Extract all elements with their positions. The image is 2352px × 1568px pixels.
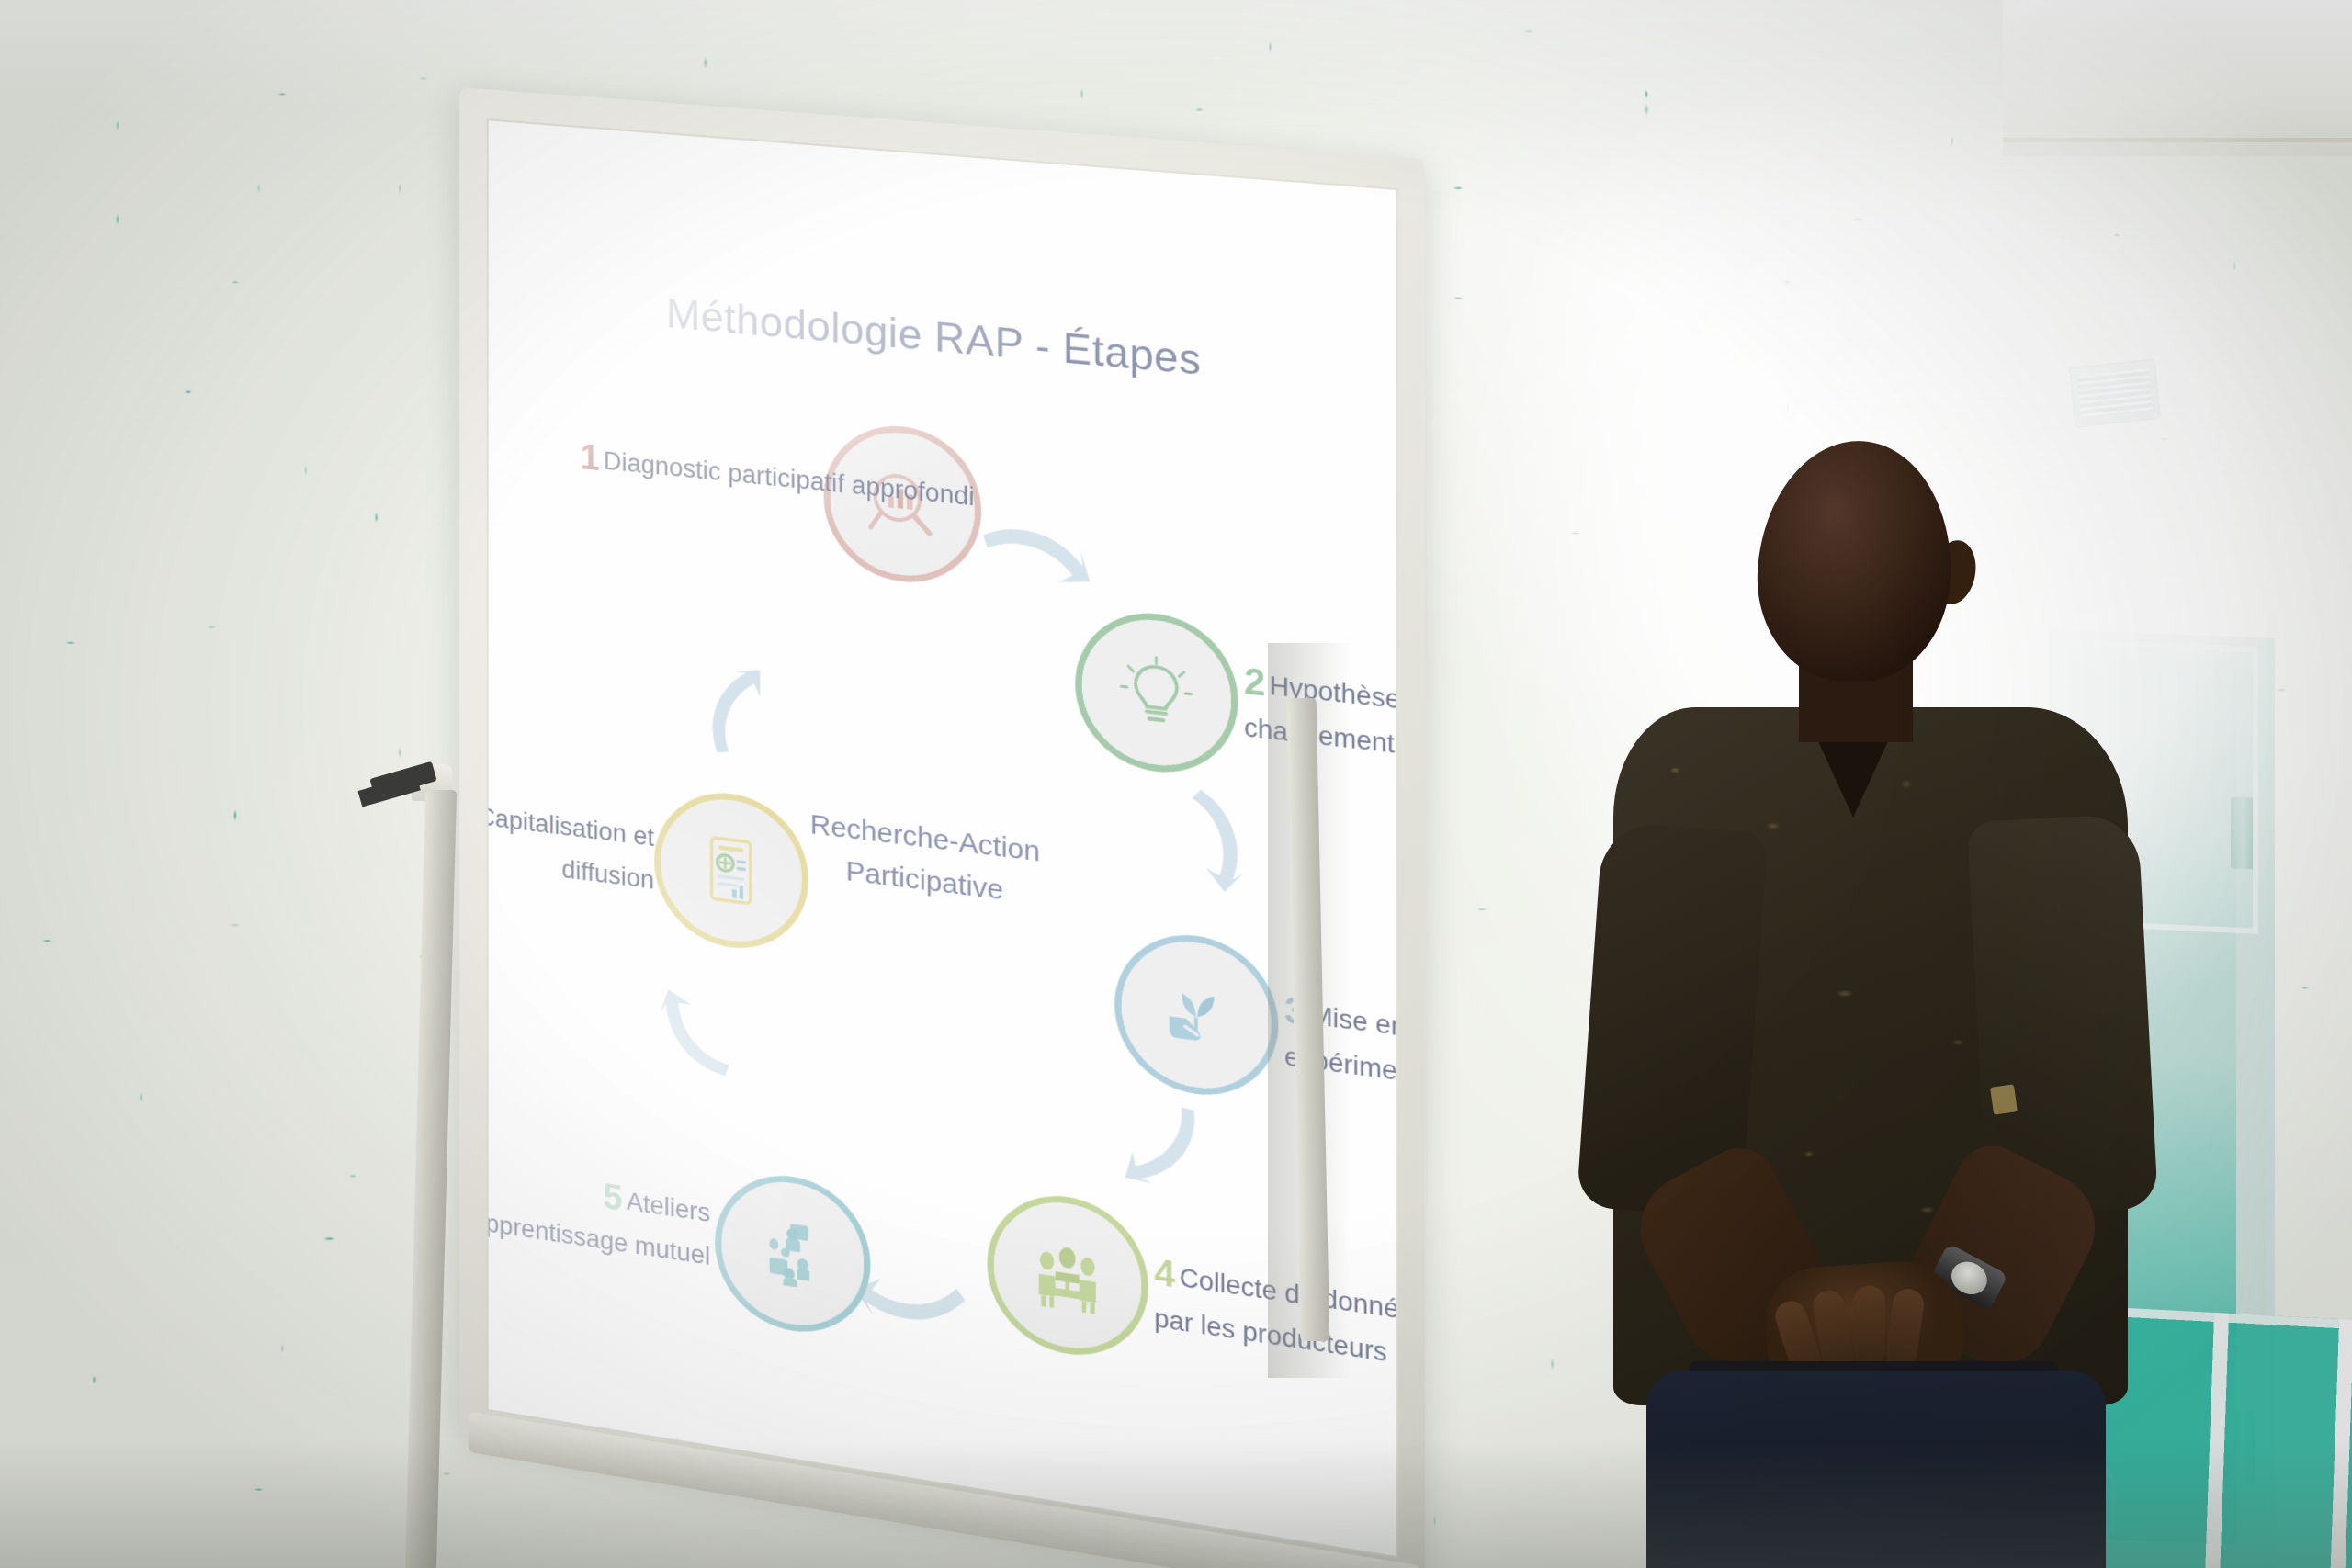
floor-shadow [0,1439,2352,1568]
step-5-number: 5 [603,1178,626,1220]
ceiling-soffit [2003,0,2352,156]
step-1-label: 1Diagnostic participatif approfondi [580,434,814,507]
step-2-number: 2 [1244,661,1270,705]
step-1-number: 1 [580,438,603,479]
wall-top-highlight [0,0,2352,110]
step-4-number: 4 [1154,1253,1179,1297]
step-5-label: 5Ateliers d'apprentissage mutuel [489,1149,710,1274]
cycle-arrow-1-to-2 [973,498,1104,610]
hand-sprout-icon [1158,973,1236,1058]
whiteboard-surface: Méthodologie RAP - Étapes [487,118,1398,1558]
finger [1883,1287,1926,1371]
cycle-center-label: Recherche-Action Participative [781,800,1070,920]
step-5-text: Ateliers d'apprentissage mutuel [489,1187,710,1270]
cycle-arrow-5-to-6 [648,978,739,1091]
photo-scene: Méthodologie RAP - Étapes [0,0,2352,1568]
projected-slide: Méthodologie RAP - Étapes [489,120,1396,1555]
cycle-arrow-3-to-4 [1103,1096,1223,1199]
step-2-node[interactable] [1075,605,1238,781]
ceiling-soffit-edge [2003,138,2352,142]
step-3-node[interactable] [1114,926,1278,1105]
step-6-text: Capitalisation et diffusion [489,802,654,894]
cycle-arrow-2-to-3 [1185,785,1249,895]
report-document-icon [695,829,768,911]
step-6-label: 6Capitalisation et diffusion [489,784,654,898]
wall-vent-icon [2069,358,2161,427]
slide-content: Méthodologie RAP - Étapes [489,120,1396,1555]
workshop-presentation-icon [755,1212,829,1296]
step-4-node[interactable] [988,1186,1148,1366]
rap-cycle-diagram: 1Diagnostic participatif approfondi [543,374,1335,1438]
people-group-icon [1029,1233,1105,1318]
cycle-arrow-6-to-1 [685,654,786,764]
step-5-node[interactable] [715,1166,870,1343]
lightbulb-icon [1117,651,1194,735]
presenter [1562,432,2223,1568]
presenter-head [1750,434,1960,688]
shirt-pin-icon [1990,1084,2018,1114]
finger [1854,1286,1885,1367]
